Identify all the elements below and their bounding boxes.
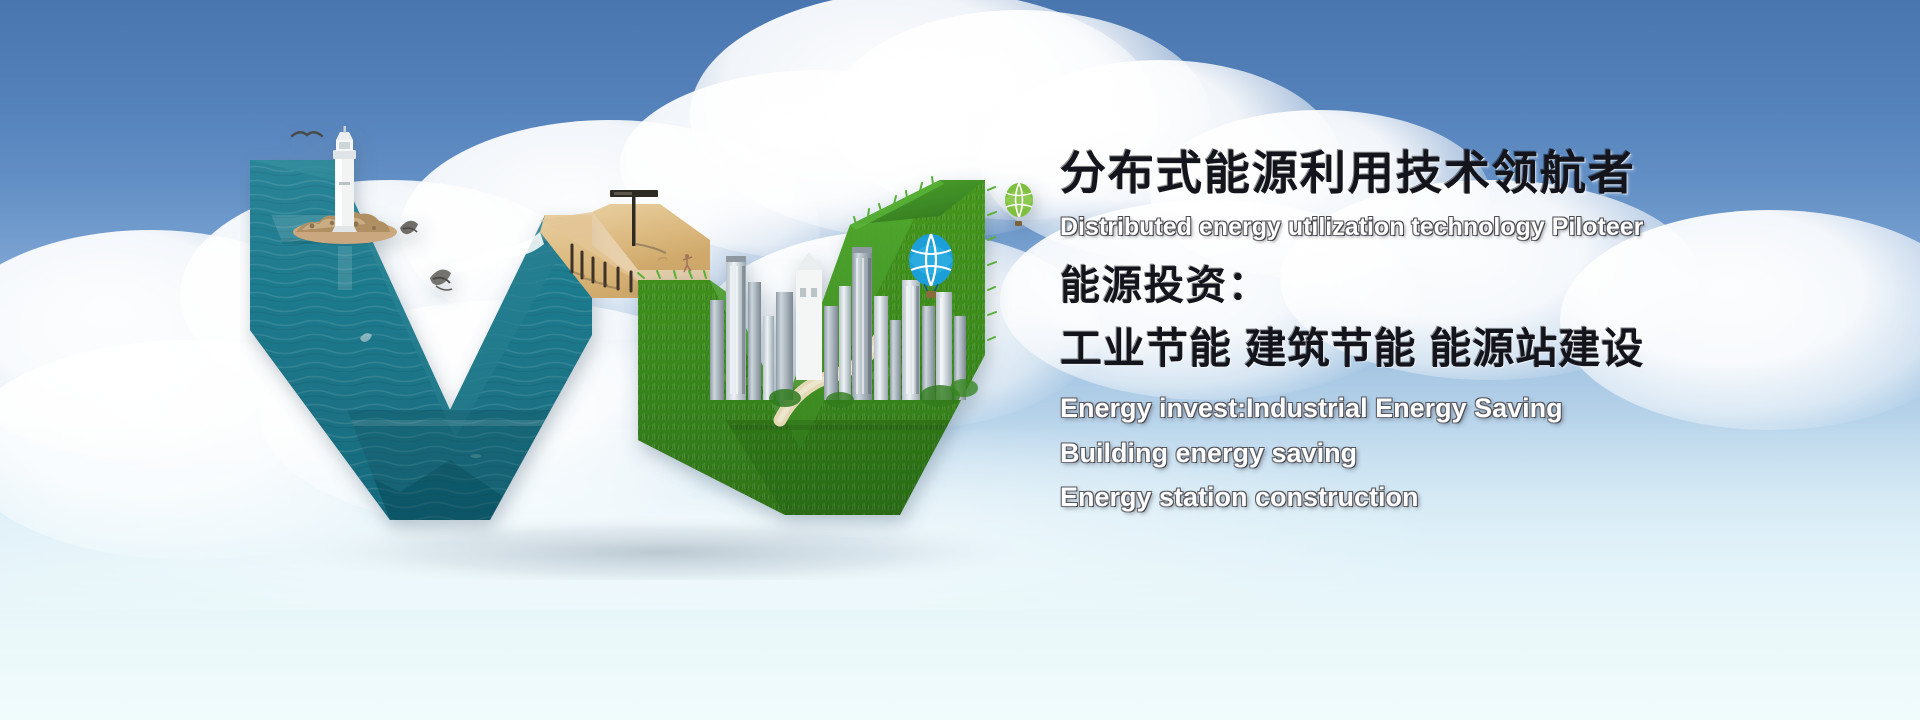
hot-air-balloon-icon bbox=[1005, 183, 1033, 226]
artwork-ground-shadow bbox=[270, 514, 1050, 580]
energy-company-hero-banner: 分布式能源利用技术领航者 Distributed energy utilizat… bbox=[0, 0, 1920, 720]
service-english-2: Building energy saving bbox=[1060, 439, 1890, 467]
banner-text-block: 分布式能源利用技术领航者 Distributed energy utilizat… bbox=[1060, 150, 1890, 511]
ocean-v-block bbox=[240, 126, 600, 530]
headline-chinese: 分布式能源利用技术领航者 bbox=[1060, 150, 1890, 196]
service-english-1: Energy invest:Industrial Energy Saving bbox=[1060, 394, 1890, 422]
seagull-icon bbox=[292, 132, 322, 136]
headline-english: Distributed energy utilization technolog… bbox=[1060, 214, 1890, 240]
service-english-3: Energy station construction bbox=[1060, 483, 1890, 511]
w-artwork-svg bbox=[240, 120, 1080, 580]
services-chinese: 工业节能 建筑节能 能源站建设 bbox=[1060, 328, 1890, 370]
section-label-chinese: 能源投资： bbox=[1060, 266, 1890, 306]
seagull-icon bbox=[430, 269, 452, 290]
w-letter-artwork bbox=[240, 120, 1080, 580]
seagull-icon bbox=[400, 221, 418, 234]
